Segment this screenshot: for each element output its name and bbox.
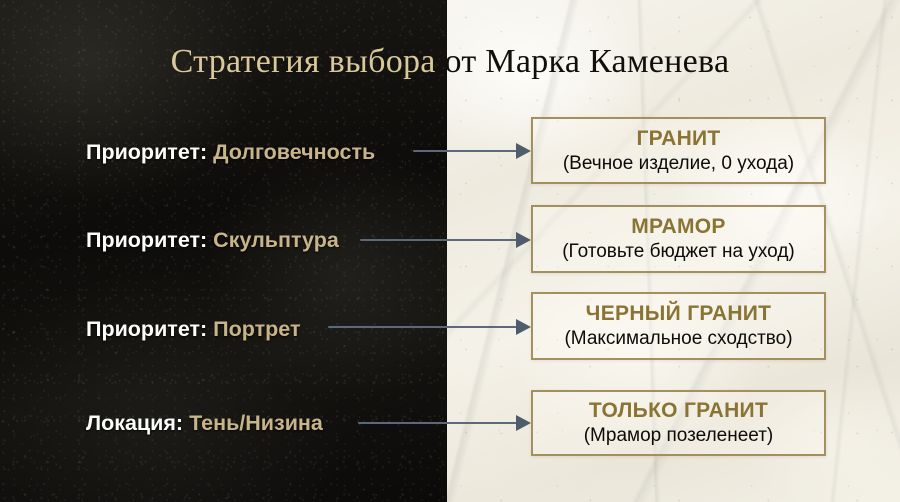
arrow-right-icon-4 [358, 414, 531, 432]
row-label-key-3: Приоритет: [86, 317, 207, 341]
row-label-value-4: Тень/Низина [189, 411, 323, 435]
row-label-value-3: Портрет [213, 317, 300, 341]
page-title-dark-part: от Марка Каменева [445, 43, 730, 80]
result-box-subtitle-3: (Максимальное сходство) [564, 327, 792, 351]
arrow-right-icon-1 [413, 142, 531, 160]
row-label-value-2: Скульптура [213, 228, 339, 252]
result-box-subtitle-4: (Мрамор позеленеет) [584, 424, 774, 448]
result-box-title-1: ГРАНИТ [636, 126, 720, 151]
result-box-subtitle-1: (Вечное изделие, 0 ухода) [563, 152, 794, 176]
row-label-key-1: Приоритет: [86, 140, 207, 164]
result-box-subtitle-2: (Готовьте бюджет на уход) [562, 240, 795, 264]
result-box-3[interactable]: ЧЕРНЫЙ ГРАНИТ (Максимальное сходство) [531, 292, 826, 360]
arrow-head-4 [516, 415, 531, 431]
arrow-head-3 [516, 319, 531, 335]
arrow-shaft-2 [360, 239, 517, 242]
arrow-shaft-4 [358, 422, 517, 425]
result-box-title-2: МРАМОР [631, 214, 725, 239]
result-box-2[interactable]: МРАМОР (Готовьте бюджет на уход) [531, 205, 826, 273]
result-box-4[interactable]: ТОЛЬКО ГРАНИТ (Мрамор позеленеет) [531, 390, 826, 456]
result-box-title-3: ЧЕРНЫЙ ГРАНИТ [586, 301, 772, 326]
slide-canvas: Стратегия выбора от Марка Каменева Приор… [0, 0, 900, 502]
result-box-1[interactable]: ГРАНИТ (Вечное изделие, 0 ухода) [531, 117, 826, 184]
arrow-right-icon-2 [360, 231, 531, 249]
arrow-shaft-1 [413, 150, 517, 153]
row-label-3: Приоритет: Портрет [86, 316, 300, 342]
page-title: Стратегия выбора от Марка Каменева [0, 42, 900, 82]
row-label-key-4: Локация: [86, 411, 183, 435]
arrow-head-1 [516, 143, 531, 159]
row-label-2: Приоритет: Скульптура [86, 227, 339, 253]
row-label-1: Приоритет: Долговечность [86, 139, 375, 165]
row-label-4: Локация: Тень/Низина [86, 410, 323, 436]
arrow-right-icon-3 [328, 318, 531, 336]
result-box-title-4: ТОЛЬКО ГРАНИТ [589, 398, 768, 423]
arrow-shaft-3 [328, 326, 517, 329]
row-label-key-2: Приоритет: [86, 228, 207, 252]
page-title-gold-part: Стратегия выбора [171, 43, 445, 80]
row-label-value-1: Долговечность [213, 140, 375, 164]
arrow-head-2 [516, 232, 531, 248]
